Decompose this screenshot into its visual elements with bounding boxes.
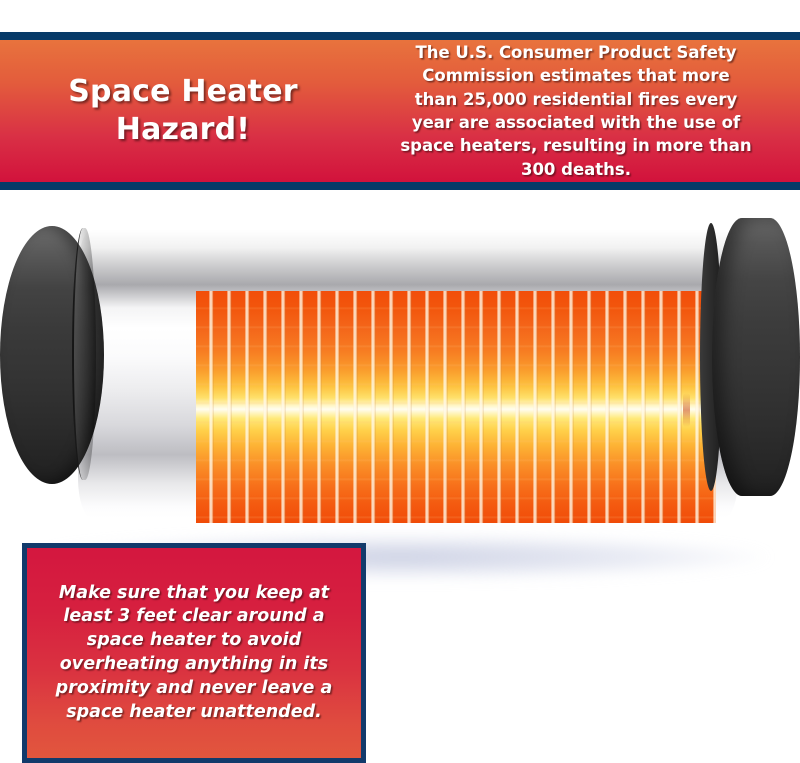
safety-statistic-text: The U.S. Consumer Product Safety Commiss… (399, 41, 754, 182)
page-title: Space HeaterHazard! (68, 73, 297, 150)
heater-chrome-body (78, 230, 738, 518)
banner-title-container: Space HeaterHazard! (0, 73, 360, 150)
banner-statistic-container: The U.S. Consumer Product Safety Commiss… (360, 41, 800, 182)
heater-endcap-right (712, 218, 800, 496)
heater-filament-tube (683, 393, 690, 427)
safety-tip-callout: Make sure that you keep at least 3 feet … (22, 543, 366, 763)
heater-endcap-left-ring (72, 228, 96, 480)
heater-grill-bars (196, 291, 716, 523)
space-heater-illustration: Make sure that you keep at least 3 feet … (0, 196, 800, 640)
heater-glowing-element (196, 291, 716, 523)
safety-tip-text: Make sure that you keep at least 3 feet … (39, 582, 349, 725)
hazard-banner: Space HeaterHazard! The U.S. Consumer Pr… (0, 32, 800, 190)
